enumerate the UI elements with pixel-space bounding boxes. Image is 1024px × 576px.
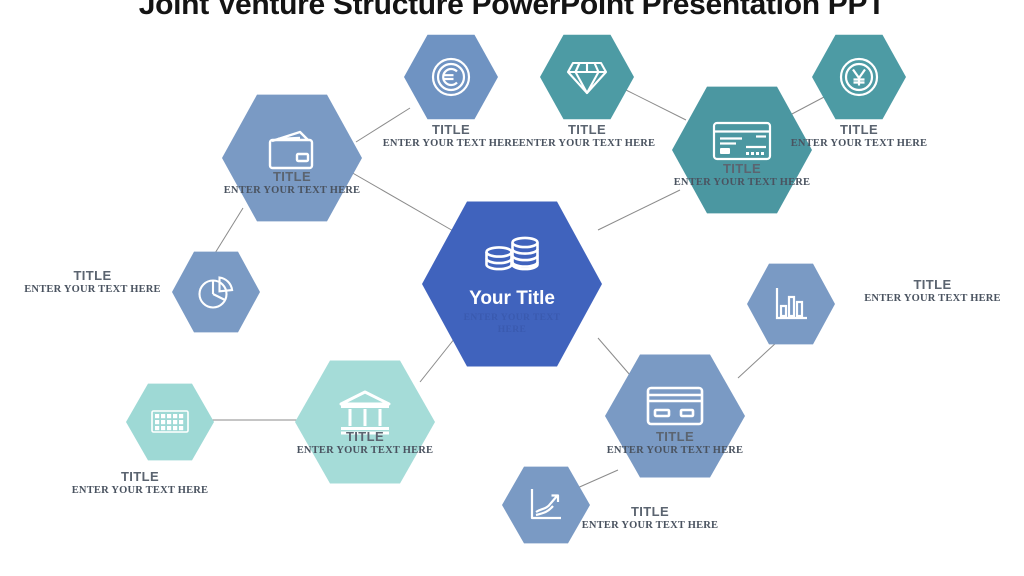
credit-card-icon [646, 385, 704, 427]
node-wallet[interactable] [222, 92, 362, 224]
diamond-hexagon[interactable] [540, 33, 634, 121]
label-wallet-title: TITLE [192, 170, 392, 185]
euro-hexagon[interactable] [404, 33, 498, 121]
label-creditcard-bottom-title: TITLE [575, 430, 775, 445]
label-wallet: TITLE ENTER YOUR TEXT HERE [192, 170, 392, 196]
creditcard-bottom-hexagon[interactable] [605, 352, 745, 480]
barchart-hexagon[interactable] [747, 262, 835, 346]
wallet-icon [264, 128, 320, 172]
label-diamond-subtitle: ENTER YOUR TEXT HERE [487, 138, 687, 150]
label-barchart-title: TITLE [855, 278, 1010, 293]
node-barchart[interactable] [747, 262, 835, 346]
label-bank: TITLE ENTER YOUR TEXT HERE [265, 430, 465, 456]
label-growth-title: TITLE [560, 505, 740, 520]
label-growth-subtitle: ENTER YOUR TEXT HERE [560, 520, 740, 532]
label-calculator-title: TITLE [60, 470, 220, 485]
label-piechart: TITLE ENTER YOUR TEXT HERE [15, 269, 170, 295]
slide-canvas: Joint Venture Structure PowerPoint Prese… [0, 0, 1024, 576]
creditcard-top-hexagon[interactable] [672, 84, 812, 216]
node-euro[interactable] [404, 33, 498, 121]
pie-chart-icon [195, 271, 237, 313]
node-calculator[interactable] [126, 382, 214, 462]
node-piechart[interactable] [172, 250, 260, 334]
node-creditcard-top[interactable] [672, 84, 812, 216]
label-creditcard-top-title: TITLE [642, 162, 842, 177]
node-creditcard-bottom[interactable] [605, 352, 745, 480]
center-title: Your Title [469, 288, 555, 310]
piechart-hexagon[interactable] [172, 250, 260, 334]
label-calculator-subtitle: ENTER YOUR TEXT HERE [60, 485, 220, 497]
label-creditcard-bottom: TITLE ENTER YOUR TEXT HERE [575, 430, 775, 456]
center-hexagon[interactable]: Your Title ENTER YOUR TEXT HERE [422, 198, 602, 370]
label-creditcard-top-subtitle: ENTER YOUR TEXT HERE [642, 177, 842, 189]
bank-hexagon[interactable] [295, 358, 435, 486]
label-barchart-subtitle: ENTER YOUR TEXT HERE [855, 293, 1010, 305]
wallet-hexagon[interactable] [222, 92, 362, 224]
label-piechart-title: TITLE [15, 269, 170, 284]
label-bank-subtitle: ENTER YOUR TEXT HERE [265, 445, 465, 457]
connector-center-cardtop [598, 190, 680, 230]
label-growth: TITLE ENTER YOUR TEXT HERE [560, 505, 740, 531]
node-yen[interactable] [812, 33, 906, 121]
node-diamond[interactable] [540, 33, 634, 121]
label-yen: TITLE ENTER YOUR TEXT HERE [759, 123, 959, 149]
bar-chart-icon [771, 284, 811, 324]
euro-coin-icon [428, 54, 474, 100]
coin-stacks-icon [481, 232, 543, 278]
label-yen-subtitle: ENTER YOUR TEXT HERE [759, 138, 959, 150]
label-bank-title: TITLE [265, 430, 465, 445]
node-bank[interactable] [295, 358, 435, 486]
calculator-icon [148, 407, 192, 437]
label-creditcard-bottom-subtitle: ENTER YOUR TEXT HERE [575, 445, 775, 457]
label-piechart-subtitle: ENTER YOUR TEXT HERE [15, 284, 170, 296]
node-center[interactable]: Your Title ENTER YOUR TEXT HERE [422, 198, 602, 370]
label-diamond: TITLE ENTER YOUR TEXT HERE [487, 123, 687, 149]
calculator-hexagon[interactable] [126, 382, 214, 462]
page-title: Joint Venture Structure PowerPoint Prese… [0, 0, 1024, 22]
label-creditcard-top: TITLE ENTER YOUR TEXT HERE [642, 162, 842, 188]
diamond-icon [565, 57, 609, 97]
yen-hexagon[interactable] [812, 33, 906, 121]
yen-coin-icon [836, 54, 882, 100]
label-calculator: TITLE ENTER YOUR TEXT HERE [60, 470, 220, 496]
center-subtitle: ENTER YOUR TEXT HERE [457, 313, 567, 337]
label-wallet-subtitle: ENTER YOUR TEXT HERE [192, 185, 392, 197]
label-barchart: TITLE ENTER YOUR TEXT HERE [855, 278, 1010, 304]
label-diamond-title: TITLE [487, 123, 687, 138]
label-yen-title: TITLE [759, 123, 959, 138]
